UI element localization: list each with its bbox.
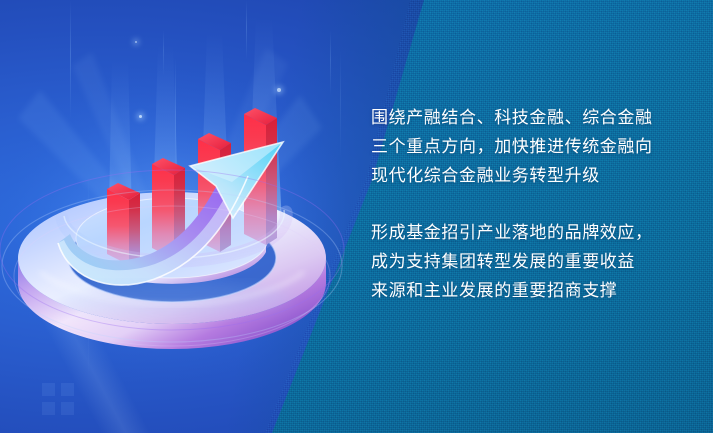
text-panel: 围绕产融结合、科技金融、综合金融 三个重点方向，加快推进传统金融向 现代化综合金… [371, 104, 701, 306]
promo-banner: 围绕产融结合、科技金融、综合金融 三个重点方向，加快推进传统金融向 现代化综合金… [0, 0, 713, 433]
paragraph-2-line-3: 来源和主业发展的重要招商支撑 [371, 277, 701, 306]
paragraph-1: 围绕产融结合、科技金融、综合金融 三个重点方向，加快推进传统金融向 现代化综合金… [371, 104, 701, 191]
paragraph-2-line-2: 成为支持集团转型发展的重要收益 [371, 248, 701, 277]
paragraph-1-line-2: 三个重点方向，加快推进传统金融向 [371, 133, 701, 162]
paragraph-1-line-3: 现代化综合金融业务转型升级 [371, 162, 701, 191]
paragraph-2: 形成基金招引产业落地的品牌效应， 成为支持集团转型发展的重要收益 来源和主业发展… [371, 219, 701, 306]
paragraph-2-line-1: 形成基金招引产业落地的品牌效应， [371, 219, 701, 248]
paragraph-1-line-1: 围绕产融结合、科技金融、综合金融 [371, 104, 701, 133]
growth-illustration [0, 0, 345, 433]
